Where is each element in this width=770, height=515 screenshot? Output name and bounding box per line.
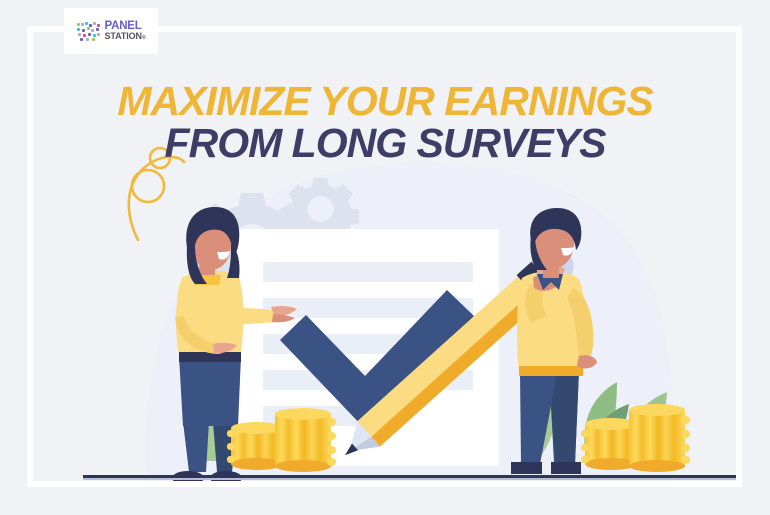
shoe [511,462,542,474]
logo-trademark: ® [142,35,146,41]
coin-column [629,404,690,472]
coin-column [227,422,283,470]
ground-line [83,475,742,478]
document-line [263,262,473,282]
headline-line-1: MAXIMIZE YOUR EARNINGS [0,80,770,122]
coin-column [275,408,336,472]
logo-dot-pattern-icon [76,20,102,42]
brand-logo[interactable]: PANEL STATION® [68,12,154,50]
ground-line-shadow [83,478,742,480]
poster-canvas: PANEL STATION® MAXIMIZE YOUR EARNINGS FR… [0,0,770,515]
skirt [179,356,241,426]
coin-column [581,418,637,470]
headline-line-2: FROM LONG SURVEYS [0,122,770,164]
logo-secondary-word: STATION® [104,32,145,41]
headline-block: MAXIMIZE YOUR EARNINGS FROM LONG SURVEYS [0,80,770,164]
shoe [551,462,581,474]
